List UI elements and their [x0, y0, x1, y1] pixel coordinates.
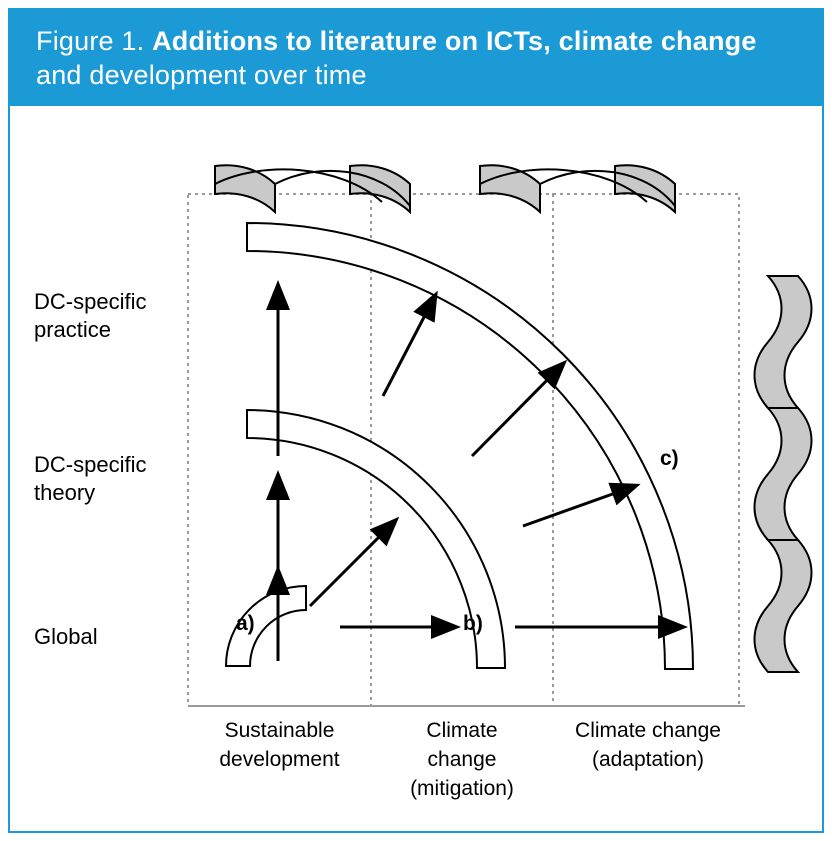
x-axis-label-climate-change-adaptation: Climate change (adaptation) — [553, 716, 743, 774]
figure-title-line-1: Figure 1. Additions to literature on ICT… — [36, 24, 800, 58]
y-axis-label-dc-specific-practice: DC-specific practice — [34, 288, 146, 344]
arrow-diagonal-c — [523, 486, 635, 526]
x-axis-label-climate-change-mitigation: Climate change (mitigation) — [371, 716, 553, 803]
figure-border: Figure 1. Additions to literature on ICT… — [8, 8, 824, 833]
right-wave-band — [755, 276, 812, 672]
y-axis-label-dc-specific-theory: DC-specific theory — [34, 451, 146, 507]
column-climate-change-adaptation — [553, 194, 739, 706]
figure-title-line-2: and development over time — [36, 58, 800, 92]
arrow-diagonal-b-to-c — [472, 364, 563, 456]
figure-title-bar: Figure 1. Additions to literature on ICT… — [10, 10, 822, 106]
figure-root: Figure 1. Additions to literature on ICT… — [0, 0, 832, 841]
figure-number: Figure 1. — [36, 26, 152, 56]
marker-b: b) — [463, 612, 483, 636]
arrow-diagonal-b-up — [383, 296, 435, 396]
marker-a: a) — [236, 612, 255, 636]
arrow-diagonal-a-to-b — [310, 521, 395, 606]
figure-title-part-1: Additions to literature on ICTs, climate… — [152, 26, 756, 56]
diagram-canvas: DC-specific practice DC-specific theory … — [10, 106, 822, 831]
y-axis-label-global: Global — [34, 623, 98, 651]
x-axis-label-sustainable-development: Sustainable development — [188, 716, 371, 774]
top-arcs — [215, 169, 675, 206]
marker-c: c) — [660, 447, 679, 471]
